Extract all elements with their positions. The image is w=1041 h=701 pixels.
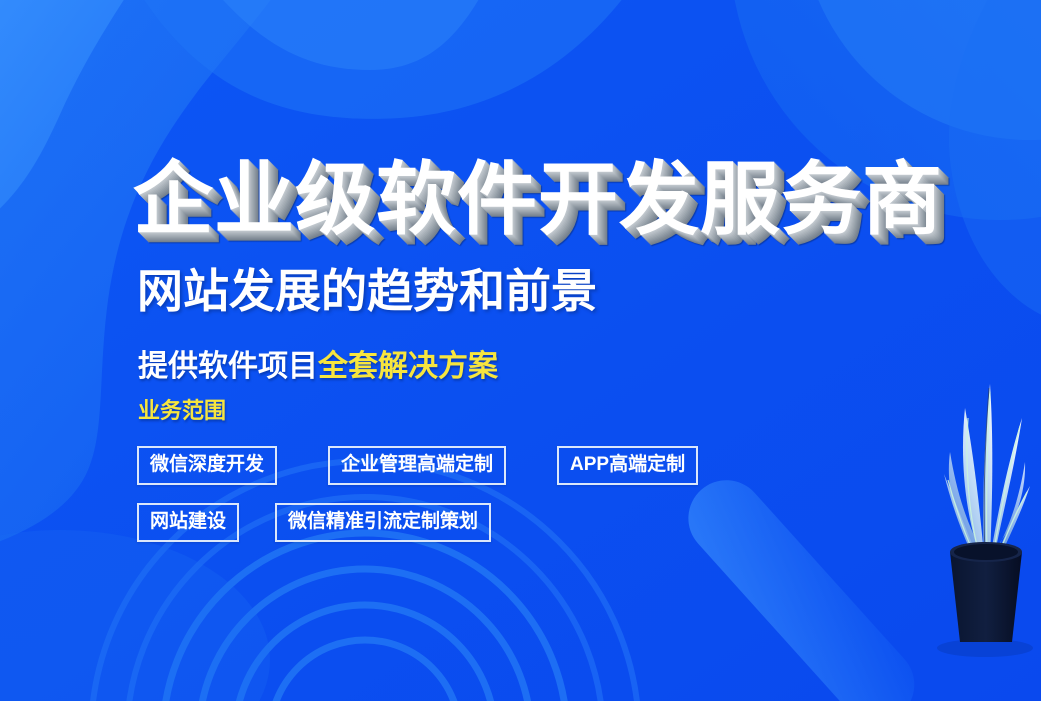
service-tag[interactable]: APP高端定制: [557, 446, 698, 485]
service-tag[interactable]: 微信精准引流定制策划: [275, 503, 491, 542]
service-tag[interactable]: 网站建设: [137, 503, 239, 542]
service-tag[interactable]: 企业管理高端定制: [328, 446, 506, 485]
service-tag[interactable]: 微信深度开发: [137, 446, 277, 485]
page-subtitle: 网站发展的趋势和前景: [137, 268, 597, 314]
banner-content: 企业级软件开发服务商 网站发展的趋势和前景 提供软件项目全套解决方案 业务范围 …: [0, 0, 1041, 701]
scope-label: 业务范围: [138, 400, 226, 422]
service-tag-row-2: 网站建设 微信精准引流定制策划: [137, 503, 491, 542]
service-tag-row-1: 微信深度开发 企业管理高端定制 APP高端定制: [137, 446, 698, 485]
page-title: 企业级软件开发服务商: [133, 160, 943, 240]
solution-line: 提供软件项目全套解决方案: [138, 352, 498, 382]
solution-prefix: 提供软件项目: [138, 350, 318, 383]
promo-banner: 企业级软件开发服务商 网站发展的趋势和前景 提供软件项目全套解决方案 业务范围 …: [0, 0, 1041, 701]
solution-highlight: 全套解决方案: [318, 350, 498, 383]
